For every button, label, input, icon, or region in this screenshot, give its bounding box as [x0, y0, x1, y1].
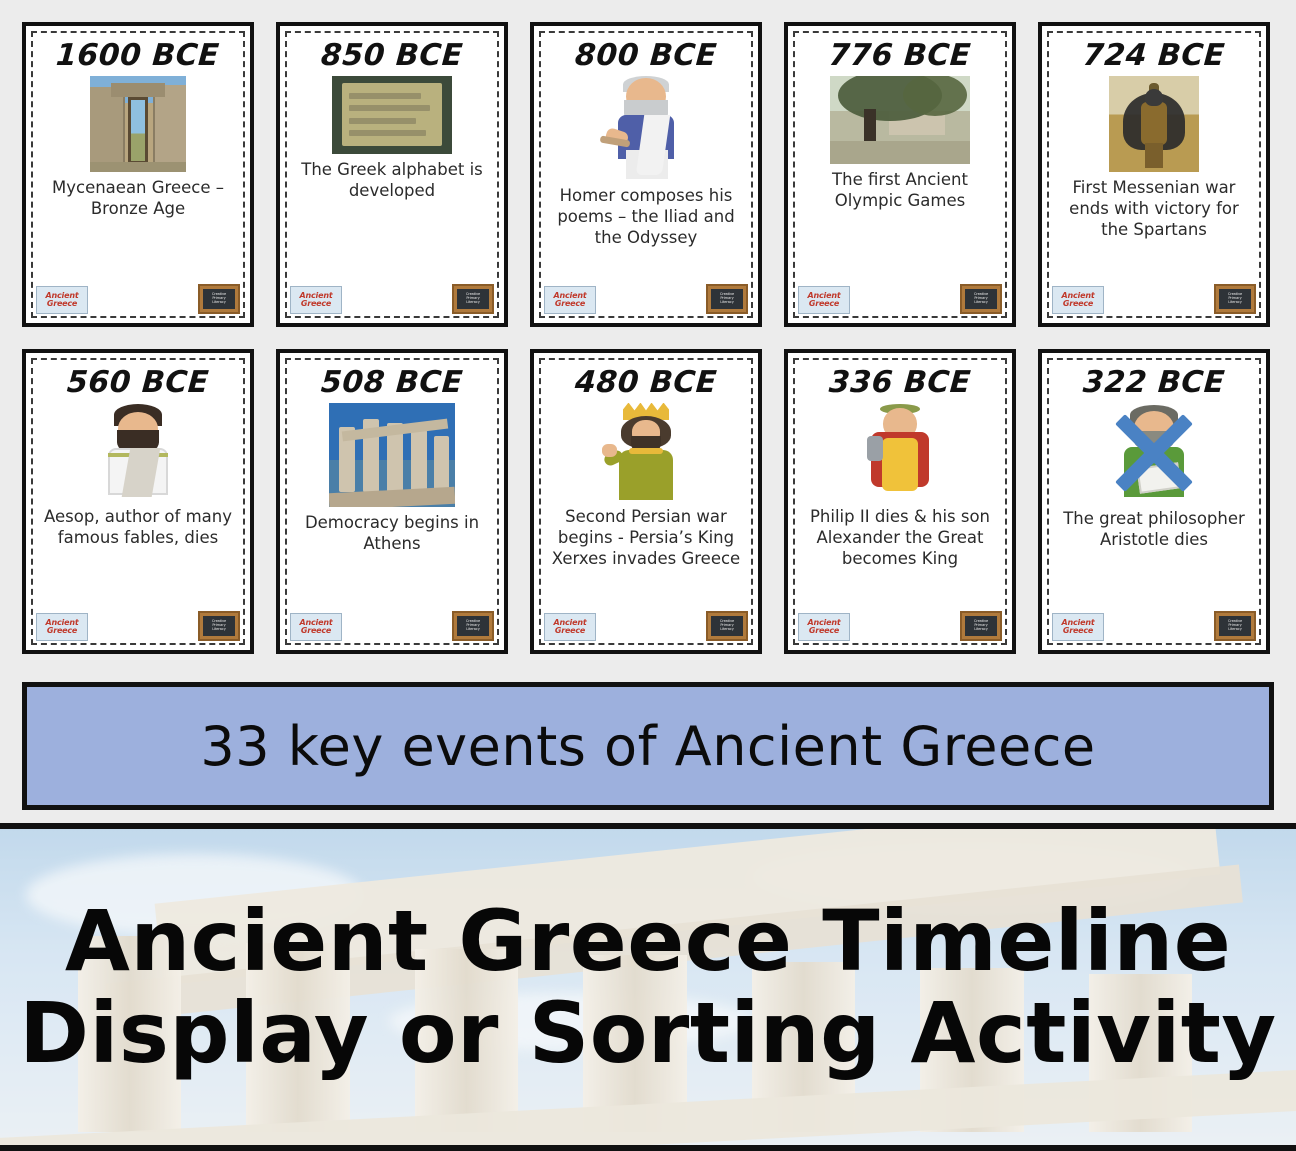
- card-date: 850 BCE: [320, 40, 464, 72]
- card-image-mycenae-lion-gate-photo: [90, 76, 186, 172]
- card-badges: Ancient Greece Creative Primary Literacy: [1052, 284, 1256, 314]
- publisher-blackboard-icon: Creative Primary Literacy: [198, 611, 240, 641]
- timeline-card[interactable]: 480 BCE Second Persian war begins - Pers…: [530, 349, 762, 654]
- publisher-line-3: Literacy: [974, 301, 988, 305]
- timeline-card[interactable]: 336 BCE Philip II dies & his son Alexand…: [784, 349, 1016, 654]
- card-badges: Ancient Greece Creative Primary Literacy: [544, 284, 748, 314]
- ancient-greece-badge: Ancient Greece: [798, 613, 850, 641]
- badge-line-2: Greece: [301, 627, 331, 635]
- publisher-blackboard-icon: Creative Primary Literacy: [960, 284, 1002, 314]
- card-badges: Ancient Greece Creative Primary Literacy: [290, 611, 494, 641]
- hero-title-line-1: Ancient Greece Timeline: [65, 897, 1231, 985]
- publisher-blackboard-icon: Creative Primary Literacy: [1214, 611, 1256, 641]
- card-badges: Ancient Greece Creative Primary Literacy: [544, 611, 748, 641]
- card-date: 480 BCE: [574, 367, 718, 399]
- badge-line-2: Greece: [47, 300, 77, 308]
- publisher-line-3: Literacy: [720, 301, 734, 305]
- ancient-greece-badge: Ancient Greece: [290, 613, 342, 641]
- card-date: 724 BCE: [1082, 40, 1226, 72]
- card-badges: Ancient Greece Creative Primary Literacy: [798, 284, 1002, 314]
- card-image-greek-inscription-stone-photo: [332, 76, 452, 154]
- card-cut-area: 336 BCE Philip II dies & his son Alexand…: [793, 358, 1007, 645]
- banner-title: 33 key events of Ancient Greece: [200, 715, 1095, 778]
- badge-line-2: Greece: [555, 627, 585, 635]
- ancient-greece-badge: Ancient Greece: [798, 286, 850, 314]
- card-date: 336 BCE: [828, 367, 972, 399]
- card-badges: Ancient Greece Creative Primary Literacy: [798, 611, 1002, 641]
- publisher-line-3: Literacy: [212, 628, 226, 632]
- badge-line-2: Greece: [555, 300, 585, 308]
- hero-title-block: Ancient Greece Timeline Display or Sorti…: [0, 829, 1296, 1145]
- card-image-homer-illustration: [596, 76, 696, 180]
- card-badges: Ancient Greece Creative Primary Literacy: [290, 284, 494, 314]
- card-date: 508 BCE: [320, 367, 464, 399]
- resource-preview-page: 1600 BCE Mycenaean Greece – Bronze Age A…: [0, 0, 1296, 1151]
- card-date: 1600 BCE: [55, 40, 221, 72]
- ancient-greece-badge: Ancient Greece: [36, 286, 88, 314]
- ancient-greece-badge: Ancient Greece: [1052, 613, 1104, 641]
- card-date: 800 BCE: [574, 40, 718, 72]
- publisher-blackboard-icon: Creative Primary Literacy: [452, 284, 494, 314]
- card-cut-area: 800 BCE Homer composes his poems – the I…: [539, 31, 753, 318]
- publisher-line-3: Literacy: [466, 301, 480, 305]
- timeline-card[interactable]: 1600 BCE Mycenaean Greece – Bronze Age A…: [22, 22, 254, 327]
- card-cut-area: 322 BCE The great philosopher Aristotle …: [1047, 358, 1261, 645]
- card-badges: Ancient Greece Creative Primary Literacy: [36, 284, 240, 314]
- card-badges: Ancient Greece Creative Primary Literacy: [36, 611, 240, 641]
- publisher-blackboard-icon: Creative Primary Literacy: [706, 611, 748, 641]
- publisher-blackboard-icon: Creative Primary Literacy: [706, 284, 748, 314]
- card-image-olympia-tree-ruins-photo: [830, 76, 970, 164]
- ancient-greece-badge: Ancient Greece: [290, 286, 342, 314]
- publisher-line-3: Literacy: [212, 301, 226, 305]
- publisher-blackboard-icon: Creative Primary Literacy: [198, 284, 240, 314]
- badge-line-2: Greece: [47, 627, 77, 635]
- card-image-king-xerxes-illustration: [598, 403, 694, 501]
- ancient-greece-badge: Ancient Greece: [544, 286, 596, 314]
- timeline-card[interactable]: 508 BCE Democracy begins in Athens: [276, 349, 508, 654]
- card-cut-area: 560 BCE Aesop, author of many famous fab…: [31, 358, 245, 645]
- card-cut-area: 724 BCE First Messenian war ends with vi…: [1047, 31, 1261, 318]
- card-image-aesop-illustration: [88, 403, 188, 501]
- badge-line-2: Greece: [1063, 627, 1093, 635]
- timeline-card[interactable]: 322 BCE The great philosopher Aristotle …: [1038, 349, 1270, 654]
- card-image-spartan-warrior-illustration: [1109, 76, 1199, 172]
- ancient-greece-badge: Ancient Greece: [36, 613, 88, 641]
- hero-title-line-2: Display or Sorting Activity: [19, 989, 1276, 1077]
- badge-line-2: Greece: [809, 627, 839, 635]
- timeline-card[interactable]: 560 BCE Aesop, author of many famous fab…: [22, 349, 254, 654]
- card-cut-area: 776 BCE The first Ancient Olympic Games …: [793, 31, 1007, 318]
- ancient-greece-badge: Ancient Greece: [544, 613, 596, 641]
- publisher-line-3: Literacy: [1228, 628, 1242, 632]
- publisher-blackboard-icon: Creative Primary Literacy: [960, 611, 1002, 641]
- timeline-card-grid: 1600 BCE Mycenaean Greece – Bronze Age A…: [22, 22, 1274, 654]
- card-cut-area: 508 BCE Democracy begins in Athens: [285, 358, 499, 645]
- card-image-temple-columns-photo: [329, 403, 455, 507]
- card-badges: Ancient Greece Creative Primary Literacy: [1052, 611, 1256, 641]
- card-date: 776 BCE: [828, 40, 972, 72]
- timeline-card[interactable]: 800 BCE Homer composes his poems – the I…: [530, 22, 762, 327]
- publisher-line-3: Literacy: [466, 628, 480, 632]
- publisher-blackboard-icon: Creative Primary Literacy: [1214, 284, 1256, 314]
- card-date: 322 BCE: [1082, 367, 1226, 399]
- card-image-alexander-the-great-illustration: [854, 403, 946, 501]
- card-cut-area: 1600 BCE Mycenaean Greece – Bronze Age A…: [31, 31, 245, 318]
- key-events-banner: 33 key events of Ancient Greece: [22, 682, 1274, 810]
- badge-line-2: Greece: [1063, 300, 1093, 308]
- badge-line-2: Greece: [809, 300, 839, 308]
- ancient-greece-badge: Ancient Greece: [1052, 286, 1104, 314]
- hero-title-section: Ancient Greece Timeline Display or Sorti…: [0, 823, 1296, 1151]
- badge-line-2: Greece: [301, 300, 331, 308]
- publisher-line-3: Literacy: [1228, 301, 1242, 305]
- card-cut-area: 850 BCE The Greek alphabet is developed …: [285, 31, 499, 318]
- publisher-line-3: Literacy: [974, 628, 988, 632]
- timeline-card[interactable]: 776 BCE The first Ancient Olympic Games …: [784, 22, 1016, 327]
- timeline-card[interactable]: 850 BCE The Greek alphabet is developed …: [276, 22, 508, 327]
- card-date: 560 BCE: [66, 367, 210, 399]
- timeline-card[interactable]: 724 BCE First Messenian war ends with vi…: [1038, 22, 1270, 327]
- publisher-blackboard-icon: Creative Primary Literacy: [452, 611, 494, 641]
- publisher-line-3: Literacy: [720, 628, 734, 632]
- card-image-aristotle-crossed-out-illustration: [1104, 403, 1204, 503]
- card-cut-area: 480 BCE Second Persian war begins - Pers…: [539, 358, 753, 645]
